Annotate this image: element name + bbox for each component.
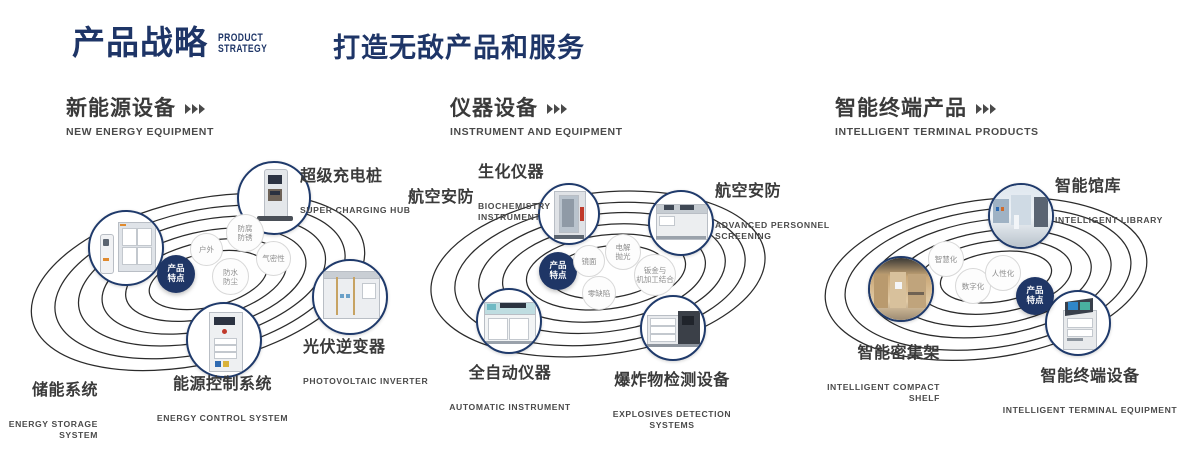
feature-bubble-zero-defect: 零缺陷	[582, 276, 616, 310]
section-title-cn-1: 新能源设备	[66, 96, 176, 120]
caption-cn: 爆炸物检测设备	[592, 371, 752, 389]
section-title-cn-2: 仪器设备	[450, 96, 538, 120]
core-badge-product-features: 产品 特点	[1016, 277, 1054, 315]
compact-shelf-icon	[870, 258, 932, 320]
caption-en: ENERGY STORAGE SYSTEM	[0, 419, 98, 440]
section-title-en-3: INTELLIGENT TERMINAL PRODUCTS	[835, 126, 1039, 138]
caption-biochemistry-instrument: 生化仪器 BIOCHEMISTRY INSTRUMENT	[478, 145, 618, 240]
node-advanced-personnel-screening[interactable]	[648, 190, 714, 256]
section-header-new-energy: 新能源设备 NEW ENERGY EQUIPMENT	[66, 96, 214, 138]
caption-en: INTELLIGENT TERMINAL EQUIPMENT	[990, 405, 1190, 416]
caption-intelligent-terminal-equipment: 智能终端设备 INTELLIGENT TERMINAL EQUIPMENT	[990, 349, 1190, 434]
explosives-detector-icon	[642, 297, 704, 359]
caption-en: AUTOMATIC INSTRUMENT	[430, 402, 590, 413]
caption-energy-storage-system: 储能系统 ENERGY STORAGE SYSTEM	[0, 363, 98, 458]
screening-machine-icon	[650, 192, 712, 254]
feature-bubble-airtightness: 气密性	[256, 241, 291, 276]
caption-cn: 智能终端设备	[990, 367, 1190, 385]
feature-bubble-anticorrosion: 防腐 防锈	[226, 214, 264, 252]
chevron-right-icon	[185, 104, 205, 114]
chevron-right-icon	[547, 104, 567, 114]
cluster-instrument: 航空安防 生化仪器 BIOCHEMISTRY INSTRUMENT	[400, 150, 820, 400]
section-header-instrument: 仪器设备 INSTRUMENT AND EQUIPMENT	[450, 96, 623, 138]
masthead: 产品战略 PRODUCT STRATEGY	[72, 26, 281, 59]
caption-explosives-detection-systems: 爆炸物检测设备 EXPLOSIVES DETECTION SYSTEMS	[592, 353, 752, 448]
feature-bubble-waterproof-dustproof: 防水 防尘	[212, 258, 249, 295]
node-intelligent-library[interactable]	[988, 183, 1054, 249]
masthead-title-cn: 产品战略	[72, 26, 208, 59]
caption-intelligent-compact-shelf: 智能密集架 INTELLIGENT COMPACT SHELF	[760, 326, 940, 421]
masthead-title-en: PRODUCT STRATEGY	[218, 33, 267, 59]
cluster-intelligent-terminal: 智能馆库 INTELLIGENT LIBRARY 智能密集架 INTELLIGE…	[800, 150, 1200, 400]
feature-bubble-humanized: 人性化	[985, 255, 1021, 291]
caption-en: INTELLIGENT LIBRARY	[1055, 215, 1200, 226]
battery-cabinet-icon	[90, 212, 162, 284]
node-intelligent-compact-shelf[interactable]	[868, 256, 934, 322]
masthead-slogan: 打造无敌产品和服务	[333, 35, 585, 62]
caption-cn: 智能密集架	[760, 344, 940, 362]
section-title-en-1: NEW ENERGY EQUIPMENT	[66, 126, 214, 138]
caption-intelligent-library: 智能馆库 INTELLIGENT LIBRARY	[1055, 159, 1200, 244]
self-service-kiosk-icon	[1047, 292, 1109, 354]
feature-bubble-mirror-finish: 镜面	[573, 245, 605, 277]
caption-en: EXPLOSIVES DETECTION SYSTEMS	[592, 409, 752, 430]
section-header-intelligent-terminal: 智能终端产品 INTELLIGENT TERMINAL PRODUCTS	[835, 96, 1039, 138]
node-explosives-detection-systems[interactable]	[640, 295, 706, 361]
feature-bubble-sheetmetal-machining: 钣金与 机加工结合	[634, 254, 676, 296]
caption-cn: 储能系统	[0, 381, 98, 399]
chevron-right-icon	[976, 104, 996, 114]
node-intelligent-terminal-equipment[interactable]	[1045, 290, 1111, 356]
cluster-new-energy: 储能系统 ENERGY STORAGE SYSTEM 超级充电桩 SUPER C…	[0, 150, 420, 400]
caption-en: INTELLIGENT COMPACT SHELF	[760, 382, 940, 403]
auto-analyzer-icon	[478, 290, 540, 352]
caption-en: BIOCHEMISTRY INSTRUMENT	[478, 201, 618, 222]
caption-cn: 能源控制系统	[110, 375, 335, 393]
section-title-cn-3: 智能终端产品	[835, 96, 967, 120]
node-energy-storage-system[interactable]	[88, 210, 164, 286]
core-badge-product-features: 产品 特点	[539, 252, 577, 290]
caption-cn: 智能馆库	[1055, 177, 1200, 195]
caption-energy-control-system: 能源控制系统 ENERGY CONTROL SYSTEM	[110, 357, 335, 442]
core-badge-product-features: 产品 特点	[157, 255, 195, 293]
caption-cn: 生化仪器	[478, 163, 618, 181]
section-title-en-2: INSTRUMENT AND EQUIPMENT	[450, 126, 623, 138]
product-strategy-infographic: 产品战略 PRODUCT STRATEGY 打造无敌产品和服务 新能源设备 NE…	[0, 0, 1200, 422]
caption-automatic-instrument: 全自动仪器 AUTOMATIC INSTRUMENT	[430, 346, 590, 431]
library-room-icon	[990, 185, 1052, 247]
feature-bubble-intelligent: 智慧化	[928, 241, 964, 277]
node-automatic-instrument[interactable]	[476, 288, 542, 354]
caption-cn: 全自动仪器	[430, 364, 590, 382]
